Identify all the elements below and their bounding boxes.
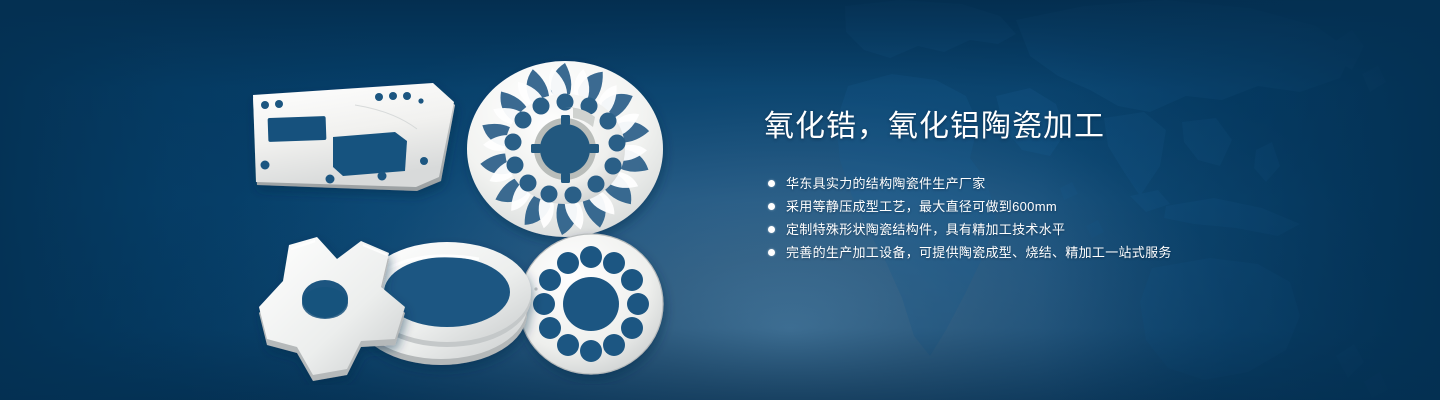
list-item: 完善的生产加工设备，可提供陶瓷成型、烧结、精加工一站式服务 [764, 241, 1324, 264]
ceramic-impeller-disc [467, 61, 663, 237]
list-item-label: 采用等静压成型工艺，最大直径可做到600mm [786, 197, 1057, 216]
page-title: 氧化锆，氧化铝陶瓷加工 [764, 108, 1324, 146]
list-item-label: 完善的生产加工设备，可提供陶瓷成型、烧结、精加工一站式服务 [786, 243, 1172, 262]
list-item: 采用等静压成型工艺，最大直径可做到600mm [764, 195, 1324, 218]
ceramic-perforated-disc [519, 234, 663, 374]
bullet-dot-icon [768, 180, 775, 187]
bullet-dot-icon [768, 203, 775, 210]
list-item-label: 定制特殊形状陶瓷结构件，具有精加工技术水平 [786, 220, 1065, 239]
promo-banner: 氧化锆，氧化铝陶瓷加工 华东具实力的结构陶瓷件生产厂家 采用等静压成型工艺，最大… [0, 0, 1440, 400]
banner-text-column: 氧化锆，氧化铝陶瓷加工 华东具实力的结构陶瓷件生产厂家 采用等静压成型工艺，最大… [764, 108, 1324, 264]
ceramic-cross-plate [259, 237, 405, 381]
bullet-dot-icon [768, 249, 775, 256]
ceramic-plate-with-cutouts [253, 83, 455, 191]
bullet-dot-icon [768, 226, 775, 233]
ceramic-products-image [235, 45, 695, 385]
list-item: 华东具实力的结构陶瓷件生产厂家 [764, 172, 1324, 195]
list-item: 定制特殊形状陶瓷结构件，具有精加工技术水平 [764, 218, 1324, 241]
feature-list: 华东具实力的结构陶瓷件生产厂家 采用等静压成型工艺，最大直径可做到600mm 定… [764, 172, 1324, 264]
list-item-label: 华东具实力的结构陶瓷件生产厂家 [786, 174, 986, 193]
